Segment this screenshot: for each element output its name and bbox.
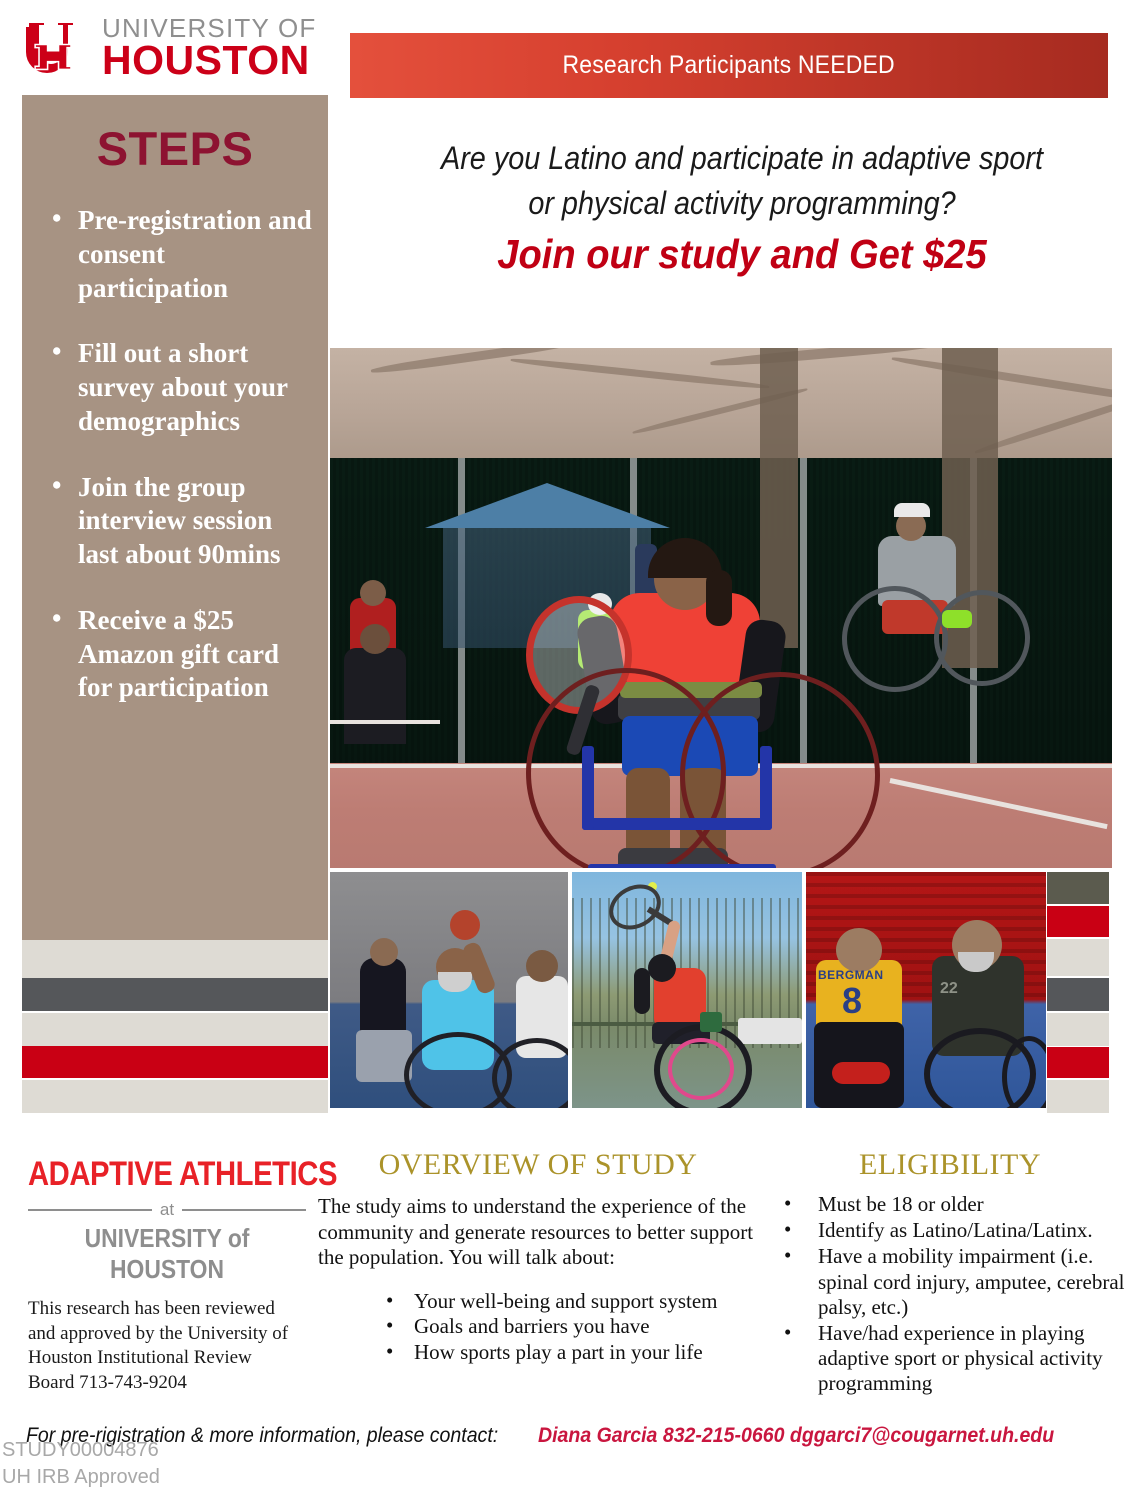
thumb-photo-wheelchair-tennis-serve	[572, 872, 802, 1108]
photo-bystander-head	[360, 580, 386, 606]
photo-wheel	[680, 672, 880, 868]
headline-block: Are you Latino and participate in adapti…	[352, 136, 1132, 278]
thumb1-basketball	[450, 910, 480, 940]
adaptive-athletics-at: at	[160, 1200, 174, 1220]
thumb2-player-head	[648, 954, 676, 982]
stripe-tan-2	[22, 903, 328, 931]
headline-cta: Join our study and Get $25	[379, 231, 1104, 278]
overview-bullet: Goals and barriers you have	[386, 1314, 758, 1340]
thumb-photo-wheelchair-rugby: BERGMAN 8 22	[806, 872, 1046, 1108]
photo-chair-frame	[582, 818, 772, 830]
research-participants-banner: Research Participants NEEDED	[350, 33, 1108, 98]
photo-bystander	[344, 648, 406, 744]
watermark-approval: UH IRB Approved	[2, 1464, 160, 1491]
photo-wheel	[934, 590, 1030, 686]
footer-contact-line: For pre-rigistration & more information,…	[26, 1424, 1116, 1448]
thumb3-yellow-player-head	[836, 928, 882, 972]
photo-bystander-head	[360, 624, 390, 654]
photo-tree-trunk	[760, 348, 798, 648]
divider-right	[182, 1209, 306, 1211]
banner-text: Research Participants NEEDED	[563, 51, 895, 80]
eligibility-heading: ELIGIBILITY	[770, 1148, 1130, 1182]
stripe-beige-right-3	[1047, 1080, 1109, 1113]
photo-footrest	[942, 610, 972, 628]
photo-subject-hair	[706, 570, 732, 626]
footer-contact[interactable]: Diana Garcia 832-215-0660 dggarci7@couga…	[538, 1424, 1054, 1448]
stripe-beige-3	[22, 1013, 328, 1046]
eligibility-bullet: Must be 18 or older	[782, 1192, 1130, 1217]
headline-question-line1: Are you Latino and participate in adapti…	[391, 136, 1093, 181]
thumb2-cup	[700, 1012, 722, 1032]
adaptive-athletics-at-row: at	[28, 1200, 306, 1220]
main-photo-wheelchair-tennis	[330, 348, 1112, 868]
irb-approval-text: This research has been reviewed and appr…	[28, 1297, 296, 1396]
stripe-olive-right	[1047, 872, 1109, 904]
thumb2-player-hair	[634, 968, 650, 1014]
stripe-red-right-1	[1047, 906, 1109, 937]
photo-player-right-cap	[894, 503, 930, 517]
overview-section: OVERVIEW OF STUDY The study aims to unde…	[318, 1148, 758, 1366]
stripe-tan-1	[22, 870, 328, 898]
uh-interlocking-monogram-icon	[22, 16, 92, 80]
steps-item: Fill out a short survey about your demog…	[52, 337, 314, 438]
photo-court-line	[330, 720, 440, 724]
stripe-red-1	[22, 1046, 328, 1078]
steps-panel: STEPS Pre-registration and consent parti…	[22, 95, 328, 945]
eligibility-bullet: Have a mobility impairment (i.e. spinal …	[782, 1244, 1130, 1320]
steps-title: STEPS	[22, 95, 328, 176]
photo-chair-frame	[582, 746, 594, 830]
steps-list: Pre-registration and consent participati…	[22, 204, 328, 705]
thumb-photo-wheelchair-basketball	[330, 872, 568, 1108]
eligibility-bullet: Have/had experience in playing adaptive …	[782, 1321, 1130, 1397]
stripe-beige-right-1	[1047, 939, 1109, 976]
stripe-beige-2	[22, 945, 328, 978]
photo-wheel	[842, 586, 948, 692]
adaptive-athletics-subtitle: UNIVERSITY of HOUSTON	[45, 1223, 290, 1285]
stripe-beige-right-2	[1047, 1013, 1109, 1046]
steps-item: Pre-registration and consent participati…	[52, 204, 314, 305]
photo-chair-frame	[760, 746, 772, 830]
steps-item: Join the group interview session last ab…	[52, 471, 314, 572]
overview-bullet: How sports play a part in your life	[386, 1340, 758, 1366]
watermark-study-id: STUDY00004876	[2, 1437, 160, 1464]
adaptive-athletics-title: ADAPTIVE ATHLETICS	[28, 1155, 279, 1194]
stripe-beige-4	[22, 1080, 328, 1113]
stripe-gray-right	[1047, 978, 1109, 1011]
eligibility-bullet: Identify as Latino/Latina/Latinx.	[782, 1218, 1130, 1243]
overview-bullet: Your well-being and support system	[386, 1289, 758, 1315]
thumb3-jersey-number: 8	[842, 980, 862, 1022]
headline-question-line2: or physical activity programming?	[391, 181, 1093, 226]
steps-item: Receive a $25 Amazon gift card for parti…	[52, 604, 314, 705]
poster-root: UNIVERSITY OF HOUSTON Research Participa…	[0, 0, 1143, 1486]
stripe-red-right-2	[1047, 1047, 1109, 1078]
overview-heading: OVERVIEW OF STUDY	[318, 1148, 758, 1182]
thumb2-bench	[738, 1018, 802, 1044]
thumb3-vesco-badge	[832, 1062, 890, 1084]
thumb2-wheel-spokes-pink	[668, 1038, 734, 1100]
photo-canopy-tent	[425, 528, 670, 568]
photo-chair-frame	[588, 864, 776, 868]
adaptive-athletics-logo: ADAPTIVE ATHLETICS at UNIVERSITY of HOUS…	[28, 1155, 320, 1396]
overview-body: The study aims to understand the experie…	[318, 1194, 758, 1271]
thumb1-defender-head	[526, 950, 558, 982]
eligibility-bullet-list: Must be 18 or older Identify as Latino/L…	[770, 1192, 1130, 1397]
thumb1-spectator-head	[370, 938, 398, 966]
uh-wordmark: UNIVERSITY OF HOUSTON	[102, 17, 317, 80]
irb-watermark: STUDY00004876 UH IRB Approved	[2, 1437, 160, 1491]
uh-wordmark-line2: HOUSTON	[102, 42, 317, 80]
stripe-gray-1	[22, 978, 328, 1011]
divider-left	[28, 1209, 152, 1211]
thumb1-spectator	[360, 958, 406, 1036]
eligibility-section: ELIGIBILITY Must be 18 or older Identify…	[770, 1148, 1130, 1398]
overview-bullet-list: Your well-being and support system Goals…	[318, 1289, 758, 1366]
thumb3-opponent-number: 22	[940, 980, 958, 998]
uh-logo: UNIVERSITY OF HOUSTON	[22, 8, 327, 88]
